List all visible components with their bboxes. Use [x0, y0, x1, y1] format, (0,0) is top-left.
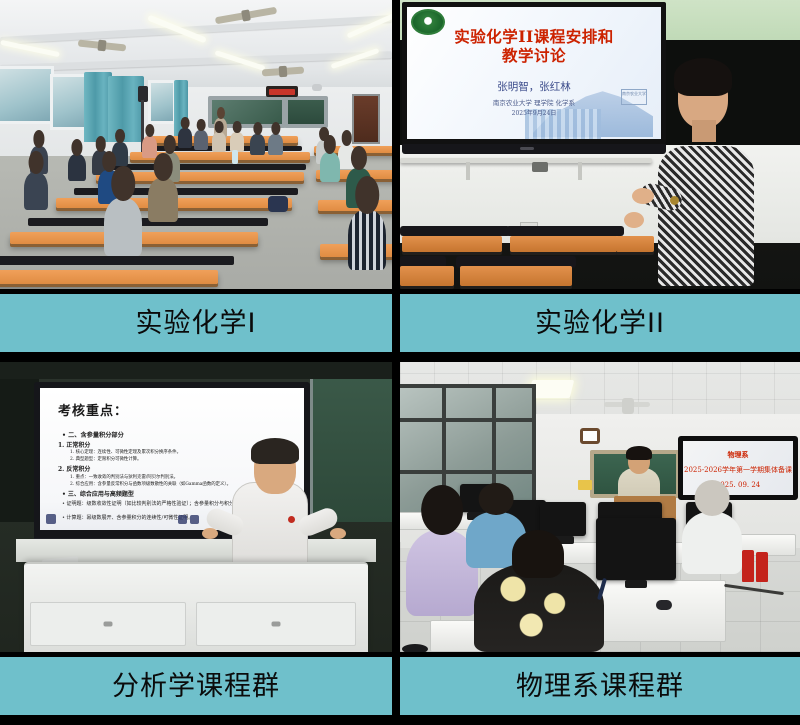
- slide-badge: 南京农业大学: [621, 89, 647, 105]
- attendee: [682, 512, 742, 574]
- slide-title: 实验化学II课程安排和 教学讨论: [407, 27, 661, 66]
- wall-clock: [580, 428, 600, 444]
- gutter-vertical: [392, 0, 400, 289]
- presenter-neck: [692, 120, 716, 142]
- stool: [402, 644, 428, 652]
- window-mullion: [400, 470, 536, 474]
- student: [348, 210, 386, 270]
- display-line-1: 物理系: [683, 450, 793, 460]
- board-toolbar-icon: [190, 515, 199, 524]
- workstation-bench: [596, 580, 726, 642]
- student: [68, 154, 86, 181]
- bottle: [232, 150, 238, 164]
- window: [148, 80, 176, 124]
- board-line: • 二、含参量积分部分: [62, 430, 124, 439]
- gutter-horizontal: [0, 352, 800, 362]
- caption-bar-experimental-chemistry-1: 实验化学I: [0, 294, 392, 352]
- window: [0, 66, 54, 124]
- student: [104, 198, 142, 256]
- caption-text: 物理系课程群: [516, 673, 684, 700]
- student: [24, 172, 48, 210]
- monitor: [596, 518, 676, 580]
- board-line: • 三、综合应用与高频题型: [62, 489, 134, 498]
- display-line-2: 2025-2026学年第一学期集体备课: [683, 465, 793, 475]
- presenter-hand: [624, 212, 644, 228]
- teacher-hair: [251, 438, 299, 464]
- wall-sensor: [532, 162, 548, 172]
- podium-drawer: [196, 602, 356, 646]
- drawer-knob: [104, 622, 113, 627]
- student: [194, 130, 208, 150]
- photo-presenter-slide: 实验化学II课程安排和 教学讨论 张明智，张红林 南京农业大学 理学院 化学系 …: [400, 0, 800, 289]
- wall-bracket: [578, 162, 582, 180]
- projection-screen: 实验化学II课程安排和 教学讨论 张明智，张红林 南京农业大学 理学院 化学系 …: [402, 2, 666, 144]
- photo-teacher-smartboard: 考核重点： • 二、含参量积分部分 1. 正常积分 1. 核心定理：连续性、可微…: [0, 362, 392, 652]
- caption-bar-physics-course-group: 物理系课程群: [400, 657, 800, 715]
- presenter-hair: [674, 58, 732, 96]
- fire-extinguisher: [742, 550, 754, 582]
- wall-bracket: [466, 162, 470, 180]
- seat: [616, 236, 654, 252]
- upper-wall: [0, 362, 392, 379]
- bench: [112, 164, 306, 170]
- student: [178, 128, 192, 148]
- board-toolbar-icon: [46, 514, 56, 524]
- caption-bar-experimental-chemistry-2: 实验化学II: [400, 294, 800, 352]
- window-mullion: [400, 418, 536, 422]
- screen-control-led: [520, 147, 534, 150]
- led-clock: [266, 86, 298, 97]
- bench: [0, 256, 234, 265]
- student: [250, 134, 265, 155]
- board-line: 1. 正常积分: [58, 440, 90, 449]
- desk-row: [0, 270, 218, 284]
- lapel-pin-icon: [288, 516, 295, 523]
- slide-date: 2025年9月24日: [407, 108, 661, 117]
- student: [268, 134, 283, 155]
- teacher-hand: [202, 528, 218, 539]
- photo-computer-lab: 物理系 2025-2026学年第一学期集体备课 2025. 09. 24: [400, 362, 800, 652]
- fan-motor: [622, 398, 634, 414]
- chalkboard-right: [310, 362, 392, 522]
- wall-sign: [578, 480, 592, 490]
- presenter-hair: [626, 446, 652, 460]
- board-line: 1. 核心定理：连续性、可微性定理及累次积分换序条件。: [70, 449, 181, 455]
- seat: [402, 236, 502, 252]
- gutter-bottom: [0, 715, 800, 725]
- caption-text: 实验化学I: [136, 310, 257, 337]
- student: [212, 132, 226, 152]
- gutter-vertical: [392, 657, 400, 715]
- board-heading: 考核重点：: [58, 400, 128, 419]
- mouse: [656, 600, 672, 610]
- caption-text: 实验化学II: [535, 310, 665, 337]
- podium-drawer: [30, 602, 186, 646]
- board-line: • 证明题：级数收敛性证明（如比较判别法的严格性验证）；含参量积分与积分换序。: [62, 500, 249, 507]
- chalkboard: [284, 96, 328, 128]
- fire-extinguisher: [756, 552, 768, 582]
- attendee-head: [421, 485, 463, 535]
- student: [142, 136, 157, 158]
- board-line: 1. 重点：一致收敛的判别法与狄利克雷/阿贝尔判别法。: [70, 474, 178, 480]
- attendee-head: [512, 530, 564, 578]
- drawer-knob: [272, 622, 281, 627]
- seat-back: [506, 226, 624, 236]
- board-toolbar-icon: [178, 515, 187, 524]
- caption-text: 分析学课程群: [112, 673, 280, 700]
- board-line: 2. 反常积分: [58, 464, 90, 473]
- projector: [312, 84, 322, 91]
- screen-bottom-bezel: [402, 144, 666, 154]
- seat-back: [400, 226, 510, 236]
- student: [230, 132, 244, 152]
- board-line: • 计算题：幂级数展开、含参量积分的连续性/可微性证明。: [62, 514, 193, 521]
- photo-lecture-hall: [0, 0, 392, 289]
- backpack: [268, 196, 288, 212]
- seat: [400, 266, 454, 286]
- teacher-hand: [330, 528, 346, 539]
- board-line: 2. 典型题型：定限积分可微性计算。: [70, 456, 141, 462]
- gutter-vertical: [392, 362, 400, 652]
- presenter-hand: [632, 188, 654, 204]
- photo-collage: 实验化学II课程安排和 教学讨论 张明智，张红林 南京农业大学 理学院 化学系 …: [0, 0, 800, 725]
- presenter-torso: [658, 146, 754, 286]
- seat: [460, 266, 572, 286]
- slide-title-line1: 实验化学II课程安排和: [407, 27, 661, 46]
- presenter-watch: [670, 196, 679, 205]
- slide-title-line2: 教学讨论: [407, 46, 661, 65]
- seat: [510, 236, 618, 252]
- wall-ledge: [400, 158, 652, 163]
- board-line: 2. 综合应用：含参量反常积分与函数项级数散性的关联（如Gamma函数的定义）。: [70, 481, 231, 487]
- door: [352, 94, 380, 144]
- student: [320, 152, 340, 182]
- student: [148, 178, 178, 222]
- caption-bar-analysis-course-group: 分析学课程群: [0, 657, 392, 715]
- attendee-head: [479, 483, 514, 515]
- gutter-vertical: [392, 294, 400, 352]
- attendee-head: [695, 480, 730, 516]
